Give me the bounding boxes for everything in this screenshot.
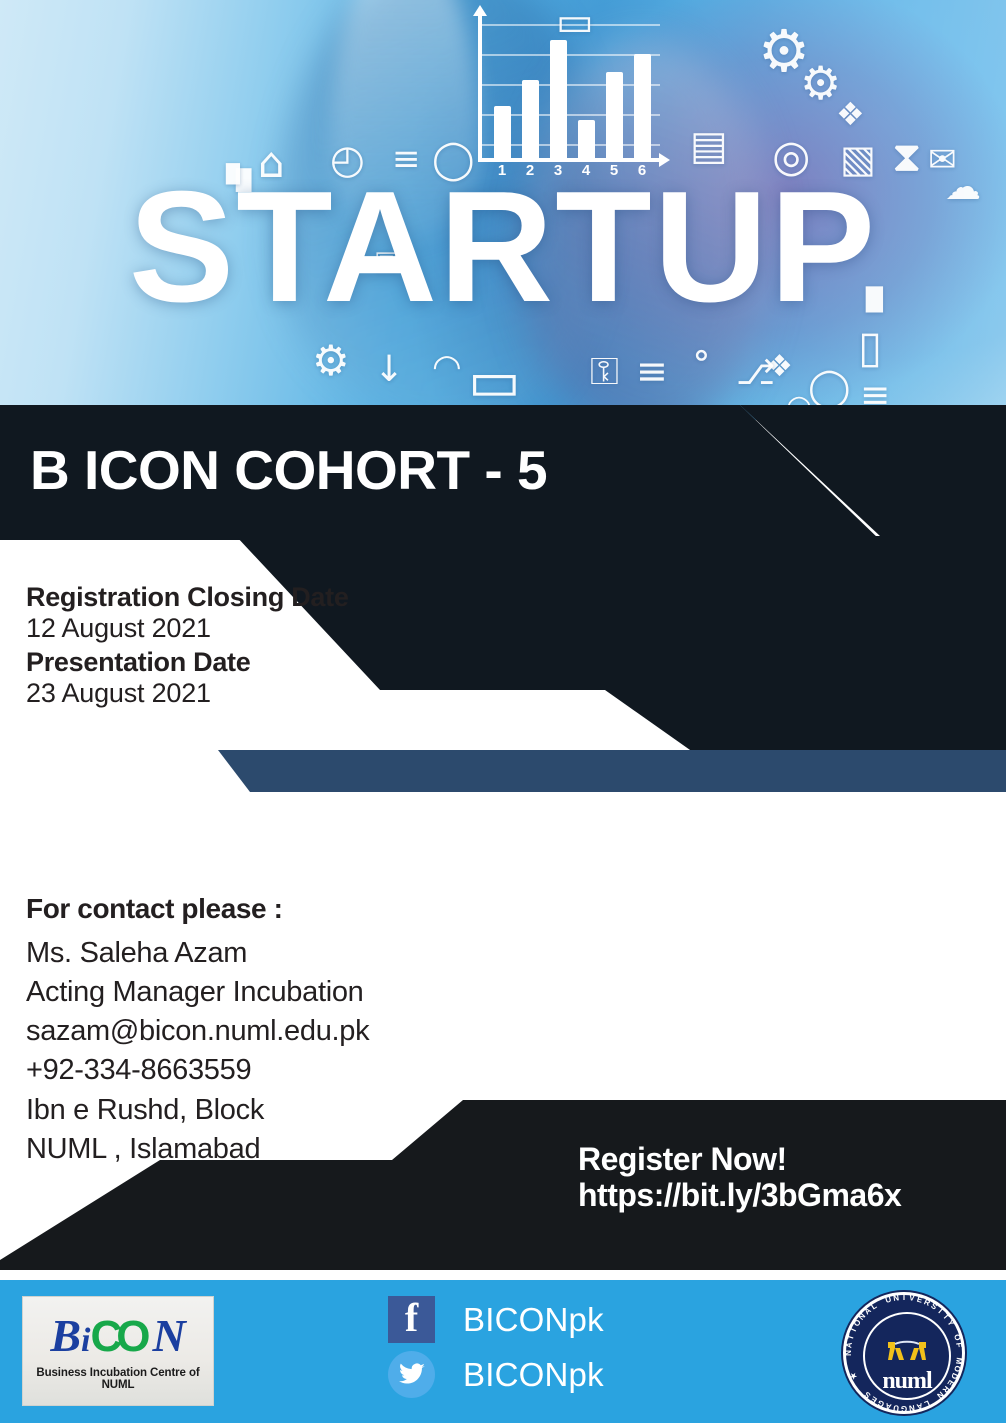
hero-banner: 123456 ⌂◴≡◯▭▤◎▧⧗✉☁⚙⚙❖█▯≡◯❖⚙↓◠▭⚿≡⚬⎇◠▭█▣█ … bbox=[0, 0, 1006, 420]
bicon-letters-co: CO bbox=[90, 1312, 144, 1361]
chart-bar bbox=[606, 72, 623, 158]
registration-closing-label: Registration Closing Date bbox=[26, 582, 446, 613]
blue-accent-bar bbox=[0, 750, 1006, 795]
chart-bar bbox=[578, 120, 595, 158]
numl-seal-inner: numl bbox=[863, 1312, 951, 1400]
chart-bar bbox=[494, 106, 511, 158]
bicon-letter-n: N bbox=[152, 1310, 185, 1361]
bicon-caption: Business Incubation Centre of NUML bbox=[23, 1367, 213, 1391]
contact-name: Ms. Saleha Azam bbox=[26, 934, 546, 973]
network-icon: ⚬ bbox=[688, 340, 715, 372]
lock-icon: ⚿ bbox=[590, 352, 619, 390]
facebook-handle[interactable]: BICONpk bbox=[463, 1301, 604, 1339]
twitter-handle[interactable]: BICONpk bbox=[463, 1356, 604, 1394]
registration-closing-value: 12 August 2021 bbox=[26, 613, 446, 644]
bulb-bottom-icon: ◯ bbox=[808, 368, 851, 406]
chart-bar bbox=[550, 40, 567, 158]
social-links: f BICONpk BICONpk bbox=[388, 1292, 604, 1402]
bicon-letter-b: B bbox=[50, 1310, 81, 1361]
dates-block: Registration Closing Date 12 August 2021… bbox=[26, 582, 446, 712]
wifi-icon: ◠ bbox=[432, 350, 462, 384]
puzzle-icon: ❖ bbox=[836, 98, 865, 130]
database-icon: ≡ bbox=[636, 352, 668, 390]
contact-role: Acting Manager Incubation bbox=[26, 973, 546, 1012]
bicon-logo: BiCON Business Incubation Centre of NUML bbox=[22, 1296, 214, 1406]
facebook-icon[interactable]: f bbox=[388, 1296, 435, 1343]
presentation-date-label: Presentation Date bbox=[26, 647, 446, 678]
chart-gridline bbox=[480, 84, 660, 86]
numl-seal-center-text: numl bbox=[865, 1368, 949, 1395]
chart-bar bbox=[634, 54, 651, 158]
bicon-wordmark: BiCON bbox=[23, 1307, 213, 1365]
twitter-row[interactable]: BICONpk bbox=[388, 1347, 604, 1402]
chart-gridline bbox=[480, 54, 660, 56]
register-cta: Register Now! bbox=[578, 1142, 901, 1178]
twitter-icon[interactable] bbox=[388, 1351, 435, 1398]
numl-seal-emblem bbox=[882, 1340, 932, 1370]
tablet-icon: ▭ bbox=[468, 354, 521, 410]
share-icon: ⎇ bbox=[736, 356, 775, 390]
gear-bottom-icon: ⚙ bbox=[312, 340, 350, 382]
numl-seal-logo: NATIONAL UNIVERSITY OF MODERN LANGUAGES … bbox=[843, 1292, 965, 1414]
chart-y-axis bbox=[478, 14, 482, 162]
poster-root: 123456 ⌂◴≡◯▭▤◎▧⧗✉☁⚙⚙❖█▯≡◯❖⚙↓◠▭⚿≡⚬⎇◠▭█▣█ … bbox=[0, 0, 1006, 1423]
contact-email[interactable]: sazam@bicon.numl.edu.pk bbox=[26, 1012, 546, 1051]
register-block: Register Now! https://bit.ly/3bGma6x bbox=[578, 1142, 901, 1214]
contact-phone[interactable]: +92-334-8663559 bbox=[26, 1051, 546, 1090]
register-url[interactable]: https://bit.ly/3bGma6x bbox=[578, 1178, 901, 1214]
contact-heading: For contact please : bbox=[26, 893, 546, 925]
monitor-icon: ▭ bbox=[556, 2, 594, 42]
facebook-row[interactable]: f BICONpk bbox=[388, 1292, 604, 1347]
hero-headline: STARTUP bbox=[0, 168, 1006, 326]
chart-bar bbox=[522, 80, 539, 158]
page-title: B ICON COHORT - 5 bbox=[30, 438, 547, 502]
presentation-date-value: 23 August 2021 bbox=[26, 678, 446, 709]
download-icon: ↓ bbox=[374, 352, 404, 388]
